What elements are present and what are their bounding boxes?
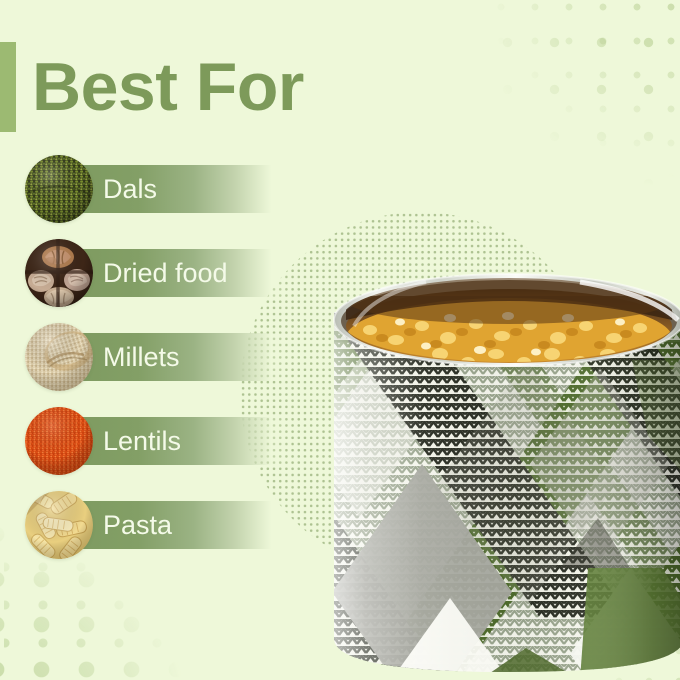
plaid-storage-container [330,268,680,680]
feature-pill [60,501,290,549]
page-title: Best For [32,53,304,121]
feature-row-dals: Dals [0,148,330,232]
feature-pill [60,165,290,213]
best-for-feature-list: Dals [0,148,330,568]
feature-label: Dals [103,165,157,213]
best-for-product-poster: Best For [0,0,680,680]
feature-label: Millets [103,333,180,381]
millets-thumbnail [25,323,93,391]
dried-food-thumbnail [25,239,93,307]
feature-row-pasta: Pasta [0,484,330,568]
feature-row-lentils: Lentils [0,400,330,484]
scattered-dots-top-right [450,0,680,200]
penne-pasta-thumbnail [25,491,93,559]
feature-row-dried-food: Dried food [0,232,330,316]
scattered-dots-top-right-2 [466,10,666,185]
feature-row-millets: Millets [0,316,330,400]
feature-label: Lentils [103,417,181,465]
feature-label: Dried food [103,249,228,297]
title-accent-bar [0,42,16,132]
feature-label: Pasta [103,501,172,549]
heading-group: Best For [0,42,304,132]
red-lentils-thumbnail [25,407,93,475]
mung-beans-thumbnail [25,155,93,223]
